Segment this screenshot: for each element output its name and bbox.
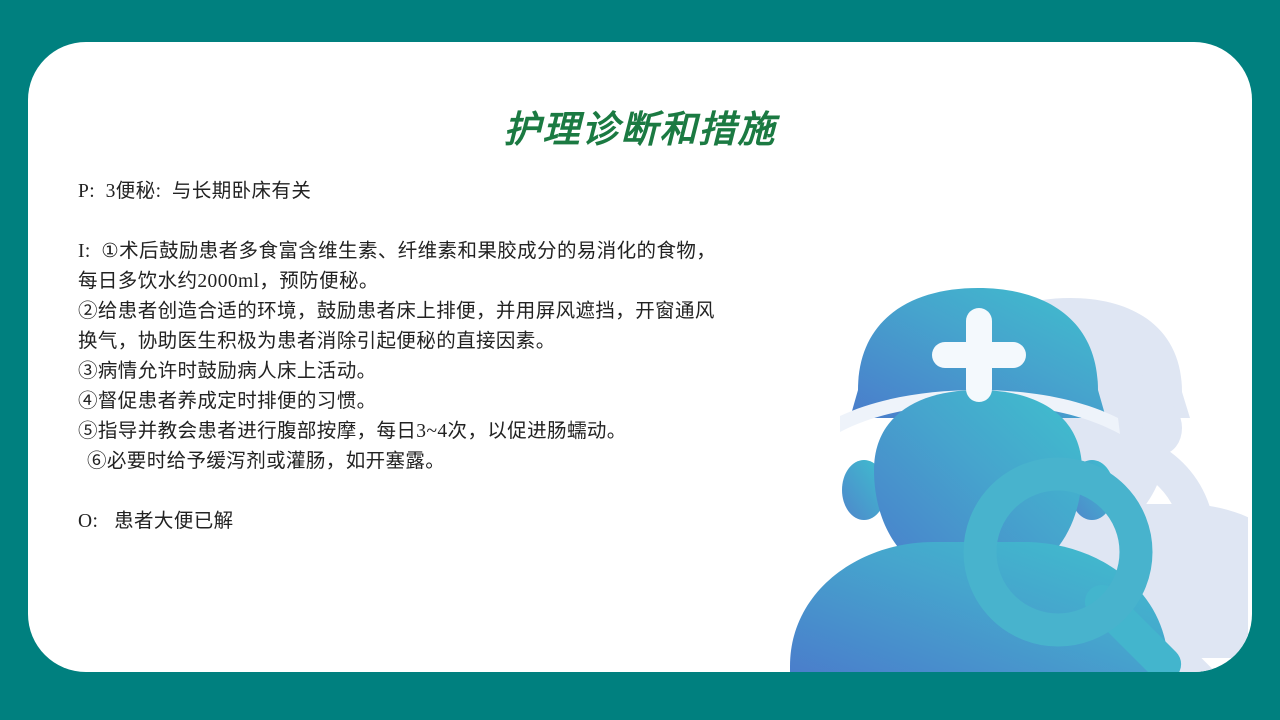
paragraph-outcome: O: 患者大便已解 bbox=[78, 507, 718, 537]
page-title: 护理诊断和措施 bbox=[28, 99, 1252, 153]
slide-root: 护理诊断和措施 P: 3便秘: 与长期卧床有关 I: ①术后鼓励患者多食富含维生… bbox=[0, 0, 1280, 720]
paragraph-intervention-3: ③病情允许时鼓励病人床上活动。 bbox=[78, 357, 718, 387]
paragraph-intervention-1: I: ①术后鼓励患者多食富含维生素、纤维素和果胶成分的易消化的食物，每日多饮水约… bbox=[78, 237, 718, 297]
paragraph-problem: P: 3便秘: 与长期卧床有关 bbox=[78, 177, 718, 207]
paragraph-intervention-6: ⑥必要时给予缓泻剂或灌肠，如开塞露。 bbox=[78, 447, 718, 477]
nurse-with-magnifier-icon bbox=[728, 220, 1248, 672]
paragraph-intervention-5: ⑤指导并教会患者进行腹部按摩，每日3~4次，以促进肠蠕动。 bbox=[78, 417, 718, 447]
paragraph-intervention-4: ④督促患者养成定时排便的习惯。 bbox=[78, 387, 718, 417]
paragraph-intervention-2: ②给患者创造合适的环境，鼓励患者床上排便，并用屏风遮挡，开窗通风换气，协助医生积… bbox=[78, 297, 718, 357]
nursing-content: P: 3便秘: 与长期卧床有关 I: ①术后鼓励患者多食富含维生素、纤维素和果胶… bbox=[78, 177, 718, 537]
slide-card: 护理诊断和措施 P: 3便秘: 与长期卧床有关 I: ①术后鼓励患者多食富含维生… bbox=[28, 42, 1252, 672]
